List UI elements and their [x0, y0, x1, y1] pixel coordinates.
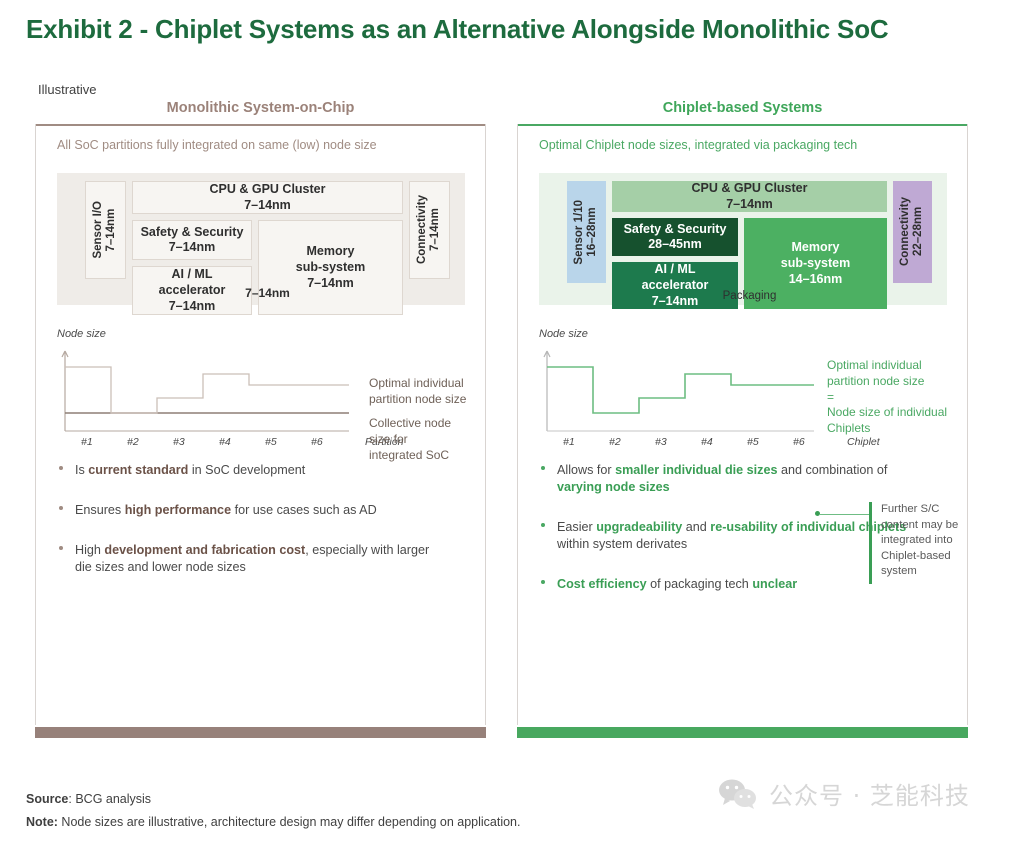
- chart-legend-optimal: Optimal individual partition node size: [369, 376, 466, 408]
- architecture-diagram-chiplet: Sensor 1/10 16–28nm CPU & GPU Cluster7–1…: [539, 173, 947, 305]
- panel-title-chiplet: Chiplet-based Systems: [517, 100, 968, 116]
- exhibit-page: Exhibit 2 - Chiplet Systems as an Altern…: [0, 0, 1024, 842]
- bullet-list-chiplet: Allows for smaller individual die sizes …: [539, 462, 929, 616]
- arch-footer-node-size: 7–14nm: [85, 286, 450, 300]
- panel-subtitle-chiplet: Optimal Chiplet node sizes, integrated v…: [539, 138, 857, 152]
- footer-note: Note: Node sizes are illustrative, archi…: [26, 815, 520, 829]
- panel-chiplet: Chiplet-based Systems Optimal Chiplet no…: [517, 100, 968, 738]
- illustrative-label: Illustrative: [38, 82, 97, 97]
- wechat-icon: [718, 778, 758, 810]
- bullet-item: Allows for smaller individual die sizes …: [539, 462, 929, 496]
- block-ai-ml-accelerator: AI / ML accelerator7–14nm: [612, 262, 738, 309]
- bullet-item: High development and fabrication cost, e…: [57, 542, 447, 576]
- chart-legend-optimal: Optimal individual partition node size =…: [827, 358, 947, 437]
- callout-accent-bar: [869, 502, 872, 584]
- callout-text: Further S/C content may be integrated in…: [881, 502, 974, 580]
- bullet-dot: [541, 523, 545, 527]
- panel-title-monolithic: Monolithic System-on-Chip: [35, 100, 486, 116]
- page-title: Exhibit 2 - Chiplet Systems as an Altern…: [26, 14, 888, 45]
- bullet-dot: [59, 506, 63, 510]
- block-safety-security: Safety & Security28–45nm: [612, 218, 738, 256]
- chart-y-axis-label: Node size: [57, 328, 106, 340]
- bullet-item: Is current standard in SoC development: [57, 462, 447, 479]
- panel-bottombar-chiplet: [517, 727, 968, 738]
- bullet-list-monolithic: Is current standard in SoC development E…: [57, 462, 447, 599]
- panel-topbar-monolithic: [35, 124, 486, 126]
- block-cpu-gpu-cluster: CPU & GPU Cluster7–14nm: [612, 181, 887, 212]
- watermark: 公众号 · 芝能科技: [718, 776, 970, 811]
- block-safety-security: Safety & Security7–14nm: [132, 220, 252, 260]
- chart-chiplet: Node size #1 #2 #3 #4 #5 #6 Chiplet Opti…: [539, 328, 949, 448]
- chart-x-ticks: #1 #2 #3 #4 #5 #6: [539, 436, 839, 450]
- chart-step-plot: [57, 343, 357, 438]
- block-cpu-gpu-cluster: CPU & GPU Cluster7–14nm: [132, 181, 403, 214]
- panel-bottombar-monolithic: [35, 727, 486, 738]
- arch-footer-packaging: Packaging: [567, 290, 932, 302]
- bullet-dot: [541, 580, 545, 584]
- chart-x-ticks: #1 #2 #3 #4 #5 #6: [57, 436, 357, 450]
- chart-monolithic: Node size #1 #2 #3 #4 #5 #6 Partition Op…: [57, 328, 467, 448]
- block-sensor-io: Sensor I/O 7–14nm: [85, 181, 126, 279]
- panel-right-rule: [485, 124, 486, 725]
- chart-x-axis-label: Chiplet: [847, 436, 880, 448]
- block-connectivity: Connectivity 7–14nm: [409, 181, 450, 279]
- bullet-dot: [541, 466, 545, 470]
- panel-monolithic: Monolithic System-on-Chip All SoC partit…: [35, 100, 486, 738]
- panel-topbar-chiplet: [517, 124, 968, 126]
- footer: Source: BCG analysis Note: Node sizes ar…: [26, 792, 520, 838]
- footer-source: Source: BCG analysis: [26, 792, 520, 806]
- bullet-dot: [59, 466, 63, 470]
- chart-y-axis-label: Node size: [539, 328, 588, 340]
- bullet-item: Ensures high performance for use cases s…: [57, 502, 447, 519]
- panel-left-rule: [517, 124, 518, 725]
- architecture-diagram-monolithic: Sensor I/O 7–14nm CPU & GPU Cluster7–14n…: [57, 173, 465, 305]
- panel-left-rule: [35, 124, 36, 725]
- optimal-node-step-line: [65, 367, 349, 413]
- block-memory-subsystem: Memory sub-system7–14nm: [258, 220, 403, 315]
- block-sensor-io: Sensor 1/10 16–28nm: [567, 181, 606, 283]
- callout-connector-line: [819, 514, 869, 515]
- optimal-node-step-line: [547, 367, 814, 413]
- panel-right-rule: [967, 124, 968, 725]
- chart-step-plot: [539, 343, 829, 438]
- panel-subtitle-monolithic: All SoC partitions fully integrated on s…: [57, 138, 377, 152]
- block-connectivity: Connectivity 22–28nm: [893, 181, 932, 283]
- bullet-dot: [59, 546, 63, 550]
- chart-legend-collective: Collective node size for integrated SoC: [369, 416, 467, 463]
- watermark-text: 公众号 · 芝能科技: [769, 776, 970, 811]
